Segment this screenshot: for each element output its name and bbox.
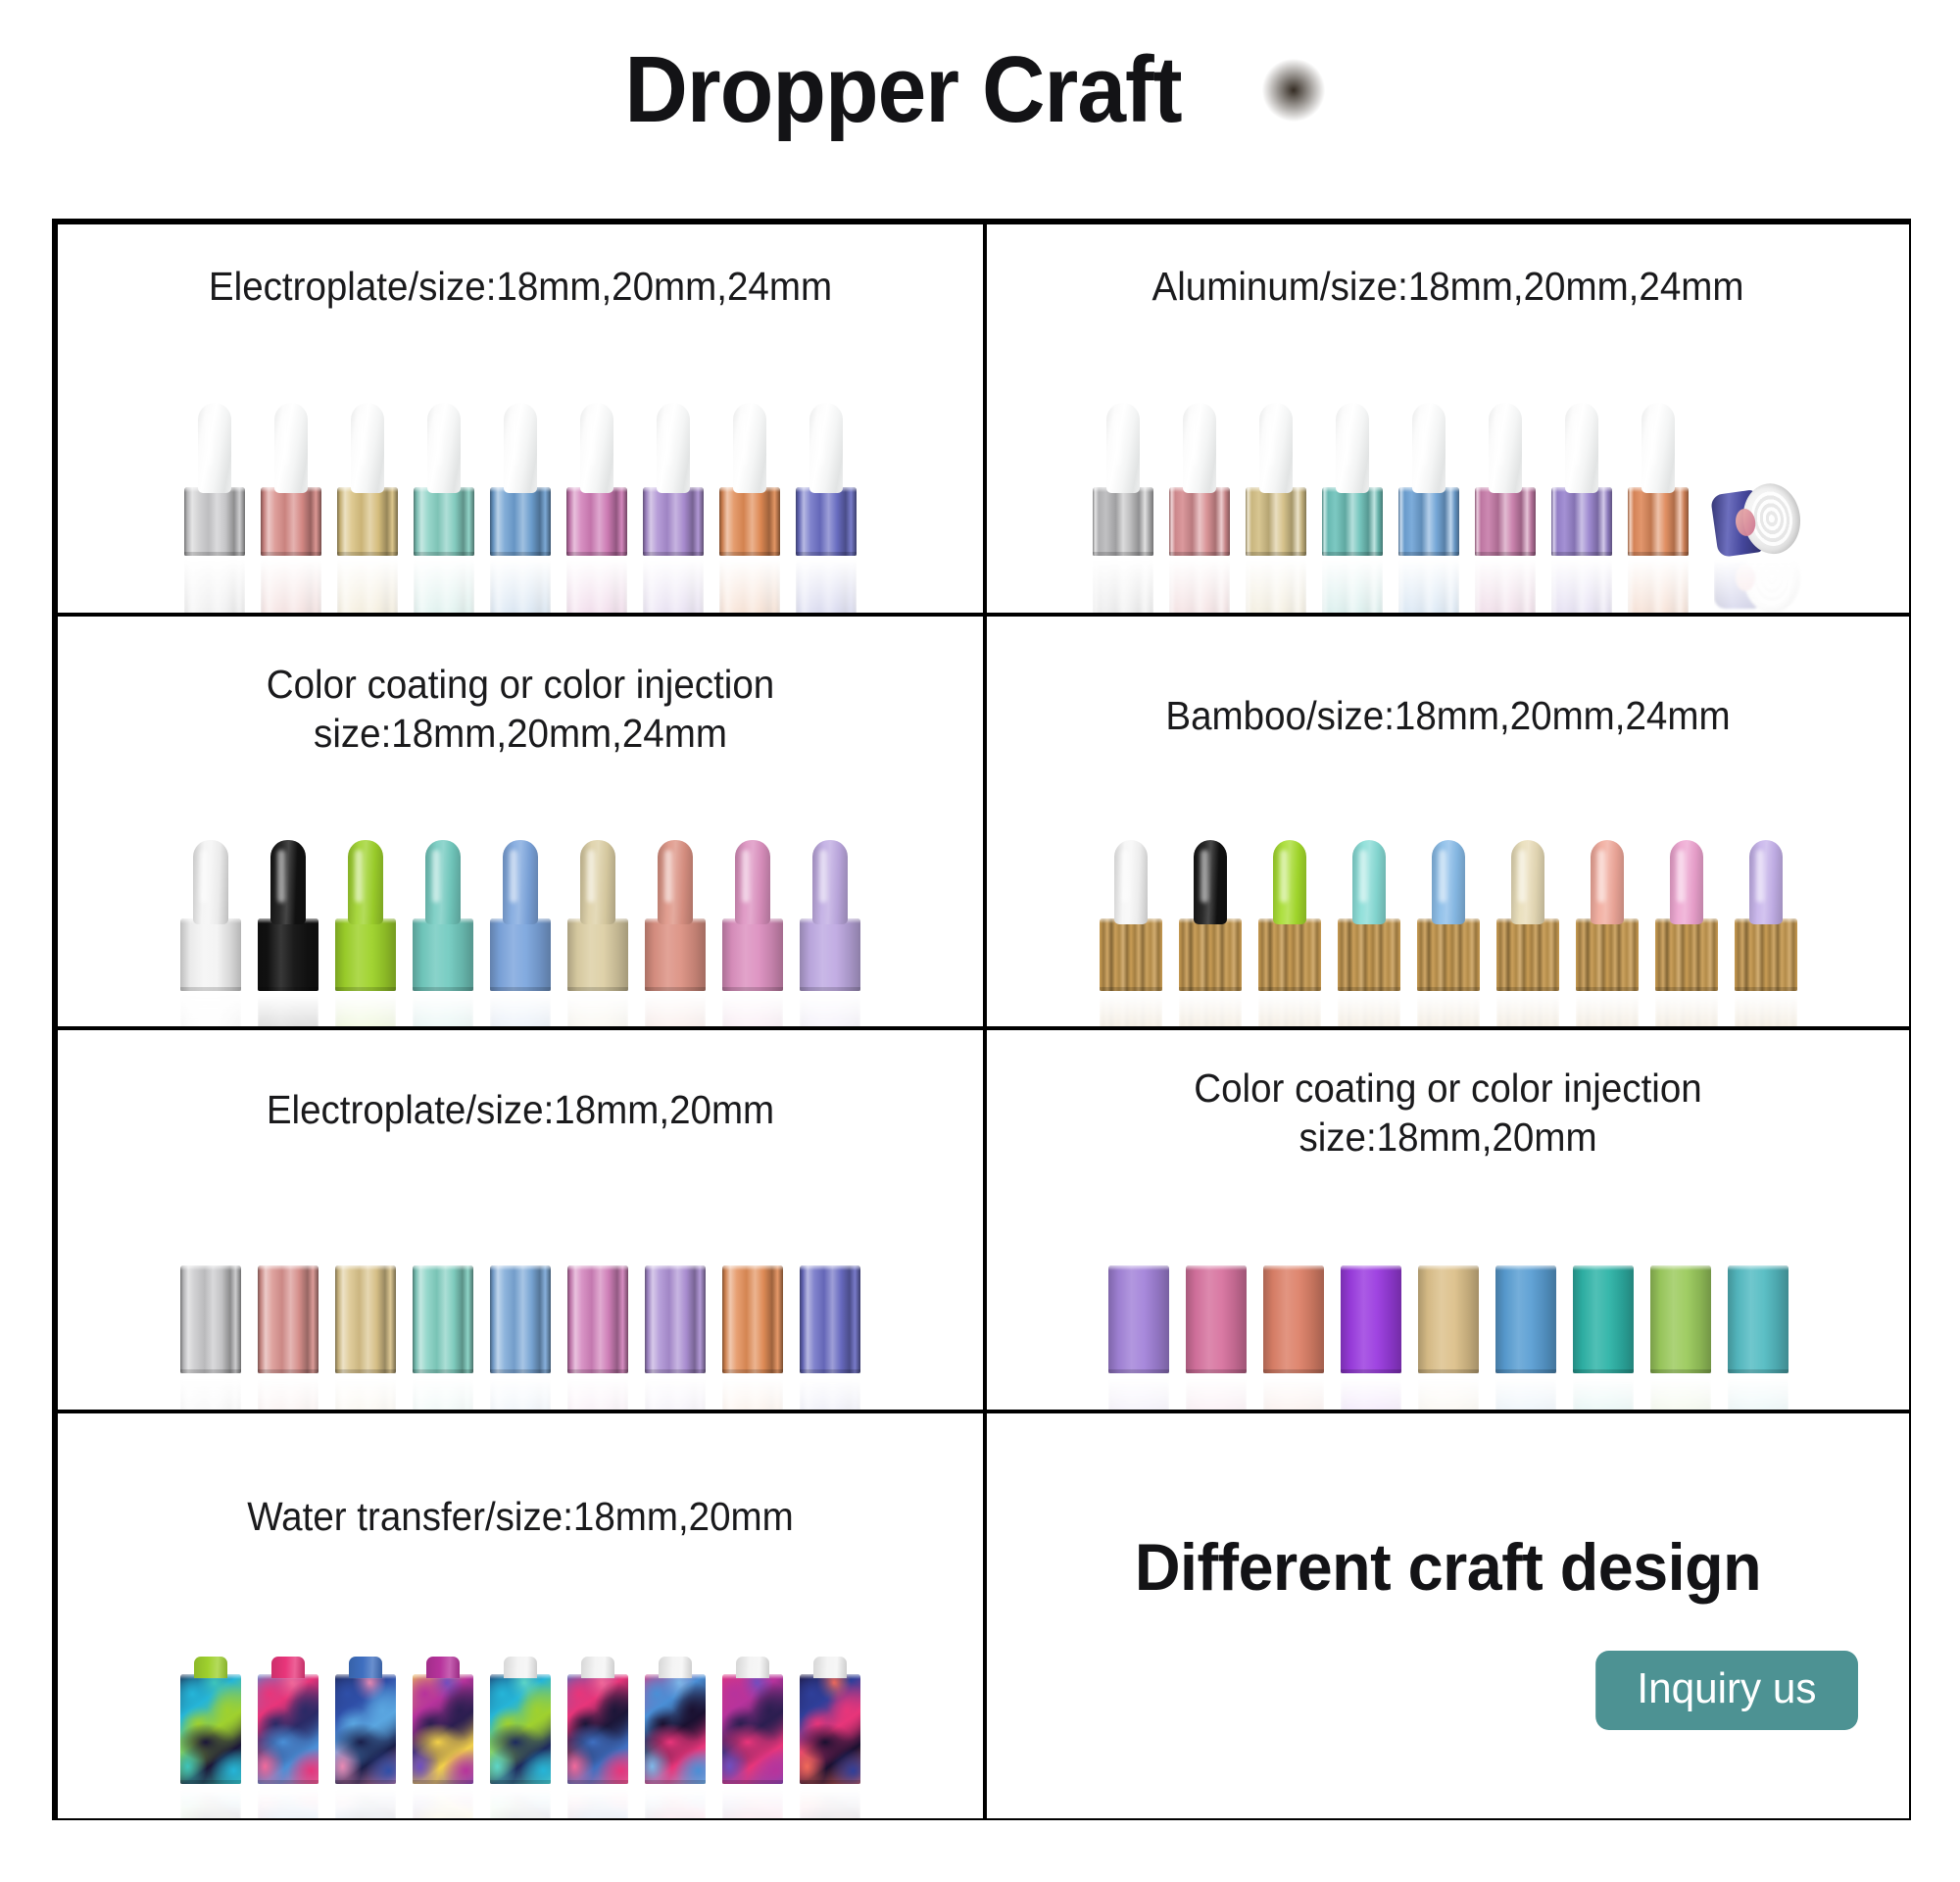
craft-cell-label: Aluminum/size:18mm,20mm,24mm <box>1014 262 1882 311</box>
dropper-bulb <box>809 403 843 493</box>
dropper-bulb <box>580 840 615 924</box>
cap-item <box>180 1248 241 1373</box>
cap-item <box>490 1657 551 1784</box>
dropper-bulb <box>504 403 537 493</box>
dropper-collar <box>567 1674 628 1784</box>
cap-item <box>1418 1248 1479 1373</box>
dropper-item <box>1551 403 1612 556</box>
dropper-item <box>1169 403 1230 556</box>
dropper-collar <box>1551 487 1612 556</box>
cap-item <box>1573 1248 1634 1373</box>
bamboo-collar <box>1735 918 1797 991</box>
cap-item <box>567 1657 628 1784</box>
poster-root: Dropper Craft <box>0 0 1960 1882</box>
cap-nub <box>1277 1248 1310 1269</box>
reflection <box>335 991 396 1028</box>
cap-item <box>722 1657 783 1784</box>
cap-item <box>645 1657 706 1784</box>
dropper-collar <box>566 487 627 556</box>
reflection <box>1341 1373 1401 1411</box>
dropper-bulb <box>580 403 613 493</box>
reflection <box>1100 991 1162 1028</box>
tilted-cap <box>1709 479 1808 562</box>
reflection <box>1650 1373 1711 1411</box>
reflection <box>567 991 628 1028</box>
dropper-bulb <box>1352 840 1386 924</box>
dropper-collar <box>722 1265 783 1373</box>
dropper-collar <box>800 918 860 991</box>
dropper-collar <box>335 1265 396 1373</box>
dropper-bulb <box>812 840 848 924</box>
cap-nub <box>426 1657 460 1678</box>
reflection <box>261 556 321 615</box>
cap-nub <box>581 1248 614 1269</box>
color-wheel-icon <box>1231 27 1356 153</box>
dropper-item <box>1100 840 1162 991</box>
dropper-collar <box>1573 1265 1634 1373</box>
cap-nub <box>1200 1248 1233 1269</box>
reflection <box>719 556 780 615</box>
dropper-collar <box>413 1674 473 1784</box>
bamboo-collar <box>1179 918 1242 991</box>
cap-nub <box>1354 1248 1388 1269</box>
dropper-row <box>58 795 983 991</box>
craft-cell-bamboo-24: Bamboo/size:18mm,20mm,24mm <box>985 615 1911 1028</box>
reflection <box>645 991 706 1028</box>
reflection <box>184 556 245 615</box>
cap-nub <box>504 1248 537 1269</box>
cap-item <box>1341 1248 1401 1373</box>
cap-item <box>490 1248 551 1373</box>
reflection <box>490 1373 551 1411</box>
reflection <box>337 556 398 615</box>
dropper-collar <box>1628 487 1689 556</box>
dropper-collar <box>643 487 704 556</box>
dropper-bulb <box>348 840 383 924</box>
reflection <box>566 556 627 615</box>
craft-cell-water-transfer-20: Water transfer/size:18mm,20mm <box>56 1411 985 1820</box>
dropper-collar <box>1322 487 1383 556</box>
dropper-item <box>1655 840 1718 991</box>
reflection <box>490 1784 551 1820</box>
cap-nub <box>1122 1248 1155 1269</box>
cap-item <box>1650 1248 1711 1373</box>
dropper-collar <box>1418 1265 1479 1373</box>
dropper-bulb <box>1749 840 1783 924</box>
craft-cell-color-coating-20: Color coating or color injection size:18… <box>985 1028 1911 1411</box>
dropper-item <box>1628 403 1689 556</box>
reflection <box>800 1784 860 1820</box>
reflection <box>1258 991 1321 1028</box>
dropper-collar <box>261 487 321 556</box>
cap-item <box>800 1248 860 1373</box>
cap-item <box>258 1657 318 1784</box>
bamboo-collar <box>1338 918 1400 991</box>
dropper-collar <box>722 1674 783 1784</box>
dropper-bulb <box>274 403 308 493</box>
cap-row <box>58 1598 983 1784</box>
dropper-item <box>490 840 551 991</box>
cap-nub <box>349 1248 382 1269</box>
cap-item <box>335 1248 396 1373</box>
cap-nub <box>736 1248 769 1269</box>
dropper-item <box>1398 403 1459 556</box>
reflection <box>645 1373 706 1411</box>
cap-nub <box>1741 1248 1775 1269</box>
dropper-item <box>413 840 473 991</box>
cap-nub <box>1432 1248 1465 1269</box>
craft-cell-label: Electroplate/size:18mm,20mm,24mm <box>85 262 955 311</box>
promo-title: Different craft design <box>1010 1529 1886 1606</box>
dropper-collar <box>800 1674 860 1784</box>
dropper-bulb <box>198 403 231 493</box>
dropper-bulb <box>1432 840 1465 924</box>
dropper-collar <box>1263 1265 1324 1373</box>
reflection <box>722 991 783 1028</box>
dropper-collar <box>337 487 398 556</box>
reflection <box>567 1373 628 1411</box>
dropper-bulb <box>733 403 766 493</box>
cap-item <box>1495 1248 1556 1373</box>
reflection <box>1495 1373 1556 1411</box>
dropper-item <box>1417 840 1480 991</box>
tilted-cap-item <box>1714 485 1804 556</box>
dropper-collar <box>796 487 857 556</box>
dropper-item <box>1322 403 1383 556</box>
dropper-collar <box>722 918 783 991</box>
dropper-collar <box>1728 1265 1788 1373</box>
dropper-bulb <box>1183 403 1216 493</box>
reflection <box>1655 991 1718 1028</box>
dropper-collar <box>258 918 318 991</box>
dropper-item <box>258 840 318 991</box>
dropper-bulb <box>1489 403 1522 493</box>
reflection <box>643 556 704 615</box>
reflection <box>1714 556 1804 613</box>
dropper-bulb <box>1670 840 1703 924</box>
dropper-collar <box>645 918 706 991</box>
reflection <box>335 1784 396 1820</box>
dropper-collar <box>258 1265 318 1373</box>
dropper-collar <box>413 1265 473 1373</box>
dropper-collar <box>413 918 473 991</box>
dropper-item <box>796 403 857 556</box>
dropper-item <box>722 840 783 991</box>
reflection <box>490 991 551 1028</box>
cap-nub <box>271 1657 305 1678</box>
dropper-bulb <box>351 403 384 493</box>
dropper-collar <box>335 918 396 991</box>
reflection <box>645 1784 706 1820</box>
cap-nub <box>659 1657 692 1678</box>
dropper-collar <box>1093 487 1153 556</box>
dropper-collar <box>645 1265 706 1373</box>
reflection <box>180 1784 241 1820</box>
dropper-bulb <box>1565 403 1598 493</box>
dropper-bulb <box>1194 840 1227 924</box>
cap-item <box>567 1248 628 1373</box>
cap-nub <box>1509 1248 1543 1269</box>
cap-item <box>258 1248 318 1373</box>
dropper-item <box>800 840 860 991</box>
craft-cell-label: Color coating or color injection size:18… <box>1014 1064 1882 1162</box>
dropper-item <box>1179 840 1242 991</box>
cap-item <box>1728 1248 1788 1373</box>
reflection <box>258 1784 318 1820</box>
dropper-row <box>987 360 1909 556</box>
bamboo-collar <box>1496 918 1559 991</box>
dropper-item <box>261 403 321 556</box>
reflection <box>1246 556 1306 615</box>
reflection <box>180 991 241 1028</box>
dropper-bulb <box>427 403 461 493</box>
dropper-item <box>1246 403 1306 556</box>
dropper-item <box>643 403 704 556</box>
dropper-collar <box>490 1674 551 1784</box>
dropper-item <box>645 840 706 991</box>
craft-cell-aluminum-24: Aluminum/size:18mm,20mm,24mm <box>985 223 1911 615</box>
dropper-item <box>1735 840 1797 991</box>
dropper-item <box>490 403 551 556</box>
cap-item <box>180 1657 241 1784</box>
dropper-item <box>719 403 780 556</box>
reflection <box>1735 991 1797 1028</box>
cap-item <box>335 1657 396 1784</box>
cap-nub <box>581 1657 614 1678</box>
dropper-collar <box>645 1674 706 1784</box>
reflection <box>800 991 860 1028</box>
dropper-bulb <box>658 840 693 924</box>
dropper-bulb <box>657 403 690 493</box>
dropper-collar <box>490 487 551 556</box>
reflection <box>1108 1373 1169 1411</box>
dropper-item <box>337 403 398 556</box>
dropper-row <box>987 795 1909 991</box>
cap-item <box>1263 1248 1324 1373</box>
dropper-collar <box>1341 1265 1401 1373</box>
dropper-bulb <box>425 840 461 924</box>
dropper-bulb <box>1641 403 1675 493</box>
reflection <box>413 1373 473 1411</box>
reflection <box>1338 991 1400 1028</box>
reflection <box>722 1784 783 1820</box>
cap-nub <box>813 1657 847 1678</box>
reflection <box>413 1784 473 1820</box>
bamboo-collar <box>1655 918 1718 991</box>
cap-nub <box>271 1248 305 1269</box>
reflection <box>413 991 473 1028</box>
dropper-item <box>335 840 396 991</box>
reflection <box>1576 991 1639 1028</box>
reflection <box>1628 556 1689 615</box>
cap-nub <box>504 1657 537 1678</box>
dropper-bulb <box>1259 403 1293 493</box>
reflection <box>1475 556 1536 615</box>
dropper-collar <box>490 918 551 991</box>
dropper-bulb <box>1114 840 1148 924</box>
dropper-bulb <box>1336 403 1369 493</box>
cap-item <box>645 1248 706 1373</box>
dropper-bulb <box>1273 840 1306 924</box>
dropper-bulb <box>1511 840 1544 924</box>
dropper-collar <box>414 487 474 556</box>
dropper-collar <box>800 1265 860 1373</box>
dropper-bulb <box>1412 403 1445 493</box>
bamboo-collar <box>1258 918 1321 991</box>
cap-item <box>1186 1248 1247 1373</box>
reflection <box>1418 1373 1479 1411</box>
dropper-collar <box>184 487 245 556</box>
reflection <box>1093 556 1153 615</box>
cap-nub <box>1664 1248 1697 1269</box>
dropper-bulb <box>503 840 538 924</box>
reflection <box>567 1784 628 1820</box>
cap-nub <box>349 1657 382 1678</box>
reflection <box>180 1373 241 1411</box>
dropper-collar <box>1169 487 1230 556</box>
dropper-item <box>184 403 245 556</box>
dropper-collar <box>258 1674 318 1784</box>
cap-row <box>987 1187 1909 1373</box>
craft-grid: Electroplate/size:18mm,20mm,24mm Aluminu… <box>52 219 1911 1820</box>
dropper-collar <box>180 918 241 991</box>
craft-cell-electroplate-24: Electroplate/size:18mm,20mm,24mm <box>56 223 985 615</box>
bamboo-collar <box>1100 918 1162 991</box>
reflection <box>722 1373 783 1411</box>
dropper-item <box>566 403 627 556</box>
craft-cell-label: Bamboo/size:18mm,20mm,24mm <box>1014 691 1882 740</box>
cap-nub <box>659 1248 692 1269</box>
craft-cell-label: Color coating or color injection size:18… <box>85 660 955 758</box>
craft-cell-color-coating-24: Color coating or color injection size:18… <box>56 615 985 1028</box>
cap-item <box>1108 1248 1169 1373</box>
cap-nub <box>194 1248 227 1269</box>
dropper-collar <box>1108 1265 1169 1373</box>
cap-nub <box>736 1657 769 1678</box>
dropper-collar <box>490 1265 551 1373</box>
bamboo-collar <box>1576 918 1639 991</box>
dropper-collar <box>1398 487 1459 556</box>
dropper-collar <box>1186 1265 1247 1373</box>
cap-item <box>800 1657 860 1784</box>
dropper-collar <box>335 1674 396 1784</box>
craft-cell-promo: Different craft design Inquiry us <box>985 1411 1911 1820</box>
reflection <box>1496 991 1559 1028</box>
dropper-item <box>414 403 474 556</box>
dropper-bulb <box>1591 840 1624 924</box>
dropper-row <box>58 360 983 556</box>
craft-cell-label: Water transfer/size:18mm,20mm <box>85 1492 955 1541</box>
dropper-collar <box>180 1674 241 1784</box>
dropper-collar <box>567 918 628 991</box>
reflection <box>800 1373 860 1411</box>
dropper-item <box>1496 840 1559 991</box>
dropper-bulb <box>1106 403 1140 493</box>
reflection <box>1728 1373 1788 1411</box>
reflection <box>1186 1373 1247 1411</box>
reflection <box>1169 556 1230 615</box>
reflection <box>335 1373 396 1411</box>
reflection <box>1417 991 1480 1028</box>
reflection <box>258 1373 318 1411</box>
reflection <box>490 556 551 615</box>
cap-nub <box>426 1248 460 1269</box>
dropper-item <box>1093 403 1153 556</box>
reflection <box>1322 556 1383 615</box>
dropper-collar <box>180 1265 241 1373</box>
reflection <box>1573 1373 1634 1411</box>
dropper-bulb <box>735 840 770 924</box>
dropper-item <box>1258 840 1321 991</box>
cap-nub <box>1587 1248 1620 1269</box>
craft-cell-label: Electroplate/size:18mm,20mm <box>85 1085 955 1134</box>
dropper-collar <box>1650 1265 1711 1373</box>
dropper-bulb <box>193 840 228 924</box>
page-title: Dropper Craft <box>625 41 1182 140</box>
dropper-bulb <box>270 840 306 924</box>
dropper-collar <box>1475 487 1536 556</box>
craft-cell-electroplate-20: Electroplate/size:18mm,20mm <box>56 1028 985 1411</box>
dropper-item <box>1475 403 1536 556</box>
dropper-collar <box>567 1265 628 1373</box>
dropper-item <box>567 840 628 991</box>
dropper-item <box>1338 840 1400 991</box>
cap-nub <box>813 1248 847 1269</box>
cap-item <box>722 1248 783 1373</box>
bamboo-collar <box>1417 918 1480 991</box>
reflection <box>414 556 474 615</box>
reflection <box>1398 556 1459 615</box>
cap-item <box>413 1248 473 1373</box>
cap-item <box>413 1657 473 1784</box>
dropper-collar <box>1495 1265 1556 1373</box>
inquiry-us-button[interactable]: Inquiry us <box>1595 1651 1858 1730</box>
reflection <box>796 556 857 615</box>
cap-nub <box>194 1657 227 1678</box>
reflection <box>1551 556 1612 615</box>
dropper-item <box>1576 840 1639 991</box>
dropper-collar <box>1246 487 1306 556</box>
reflection <box>1179 991 1242 1028</box>
dropper-item <box>180 840 241 991</box>
page-header: Dropper Craft <box>0 27 1960 153</box>
dropper-collar <box>719 487 780 556</box>
reflection <box>258 991 318 1028</box>
cap-row <box>58 1187 983 1373</box>
reflection <box>1263 1373 1324 1411</box>
